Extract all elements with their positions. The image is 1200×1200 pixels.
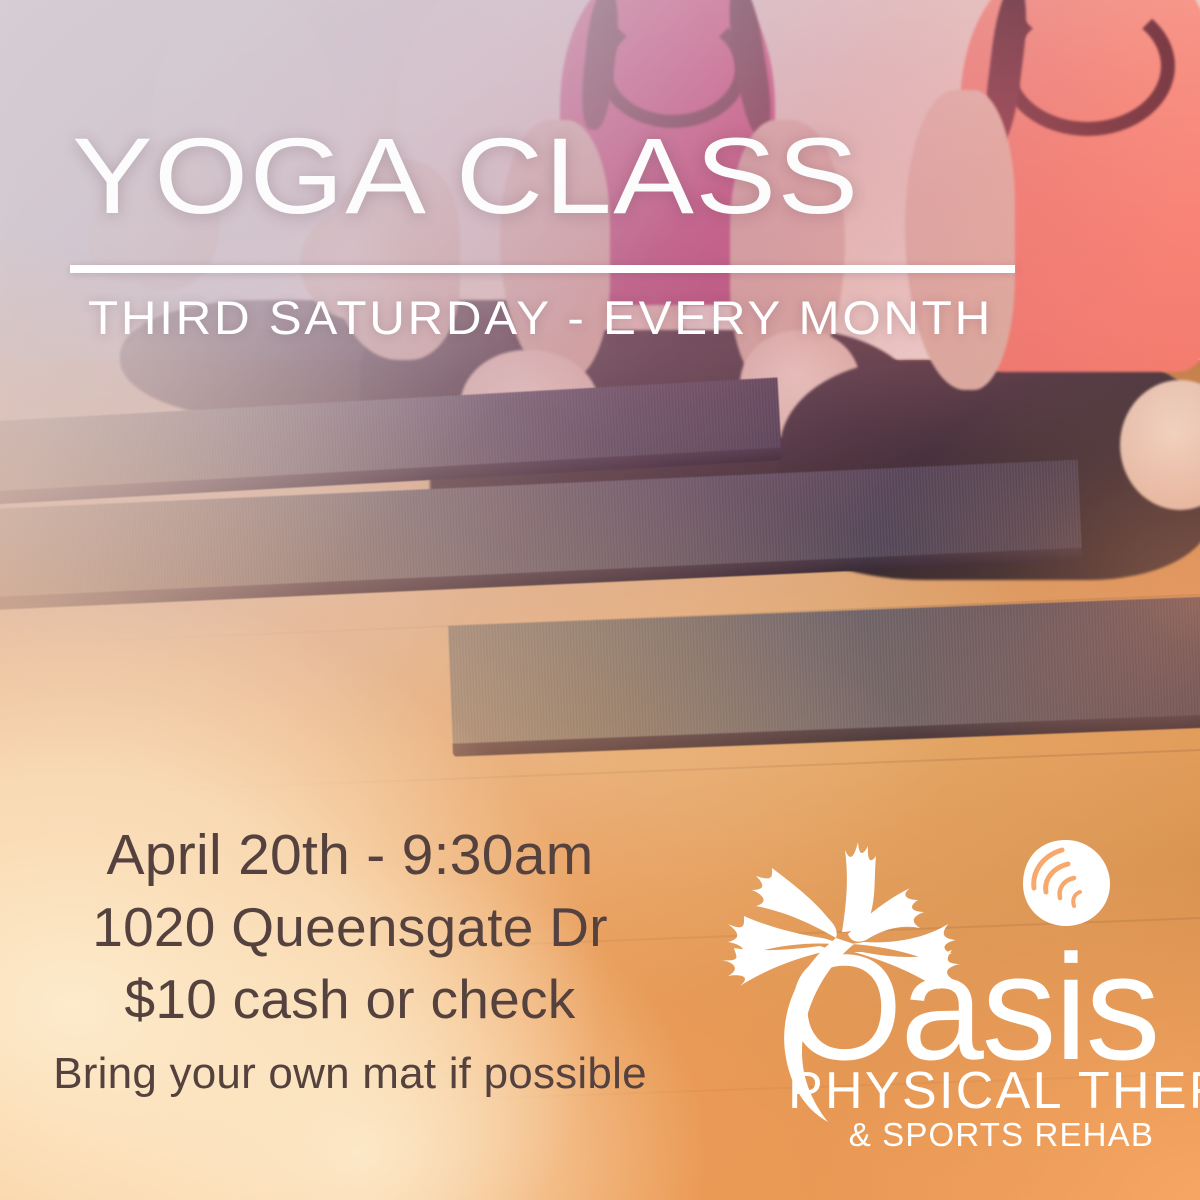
event-details: April 20th - 9:30am 1020 Queensgate Dr $… (0, 818, 700, 1102)
oasis-logo: Oasis PHYSICAL THERAPY & SPORTS REHAB (686, 820, 1186, 1165)
poster-content: YOGA CLASS THIRD SATURDAY - EVERY MONTH … (0, 0, 1200, 1200)
detail-note: Bring your own mat if possible (0, 1045, 700, 1102)
schedule-subheading: THIRD SATURDAY - EVERY MONTH (88, 294, 993, 341)
detail-address: 1020 Queensgate Dr (0, 892, 700, 964)
detail-price: $10 cash or check (0, 964, 700, 1036)
palm-tree-icon (722, 842, 960, 1122)
divider-rule (70, 265, 1015, 273)
yoga-class-flyer: YOGA CLASS THIRD SATURDAY - EVERY MONTH … (0, 0, 1200, 1200)
spiral-shell-icon (1023, 840, 1110, 926)
logo-artwork (686, 820, 1186, 1165)
detail-date-time: April 20th - 9:30am (0, 818, 700, 892)
headline-title: YOGA CLASS (72, 122, 860, 230)
